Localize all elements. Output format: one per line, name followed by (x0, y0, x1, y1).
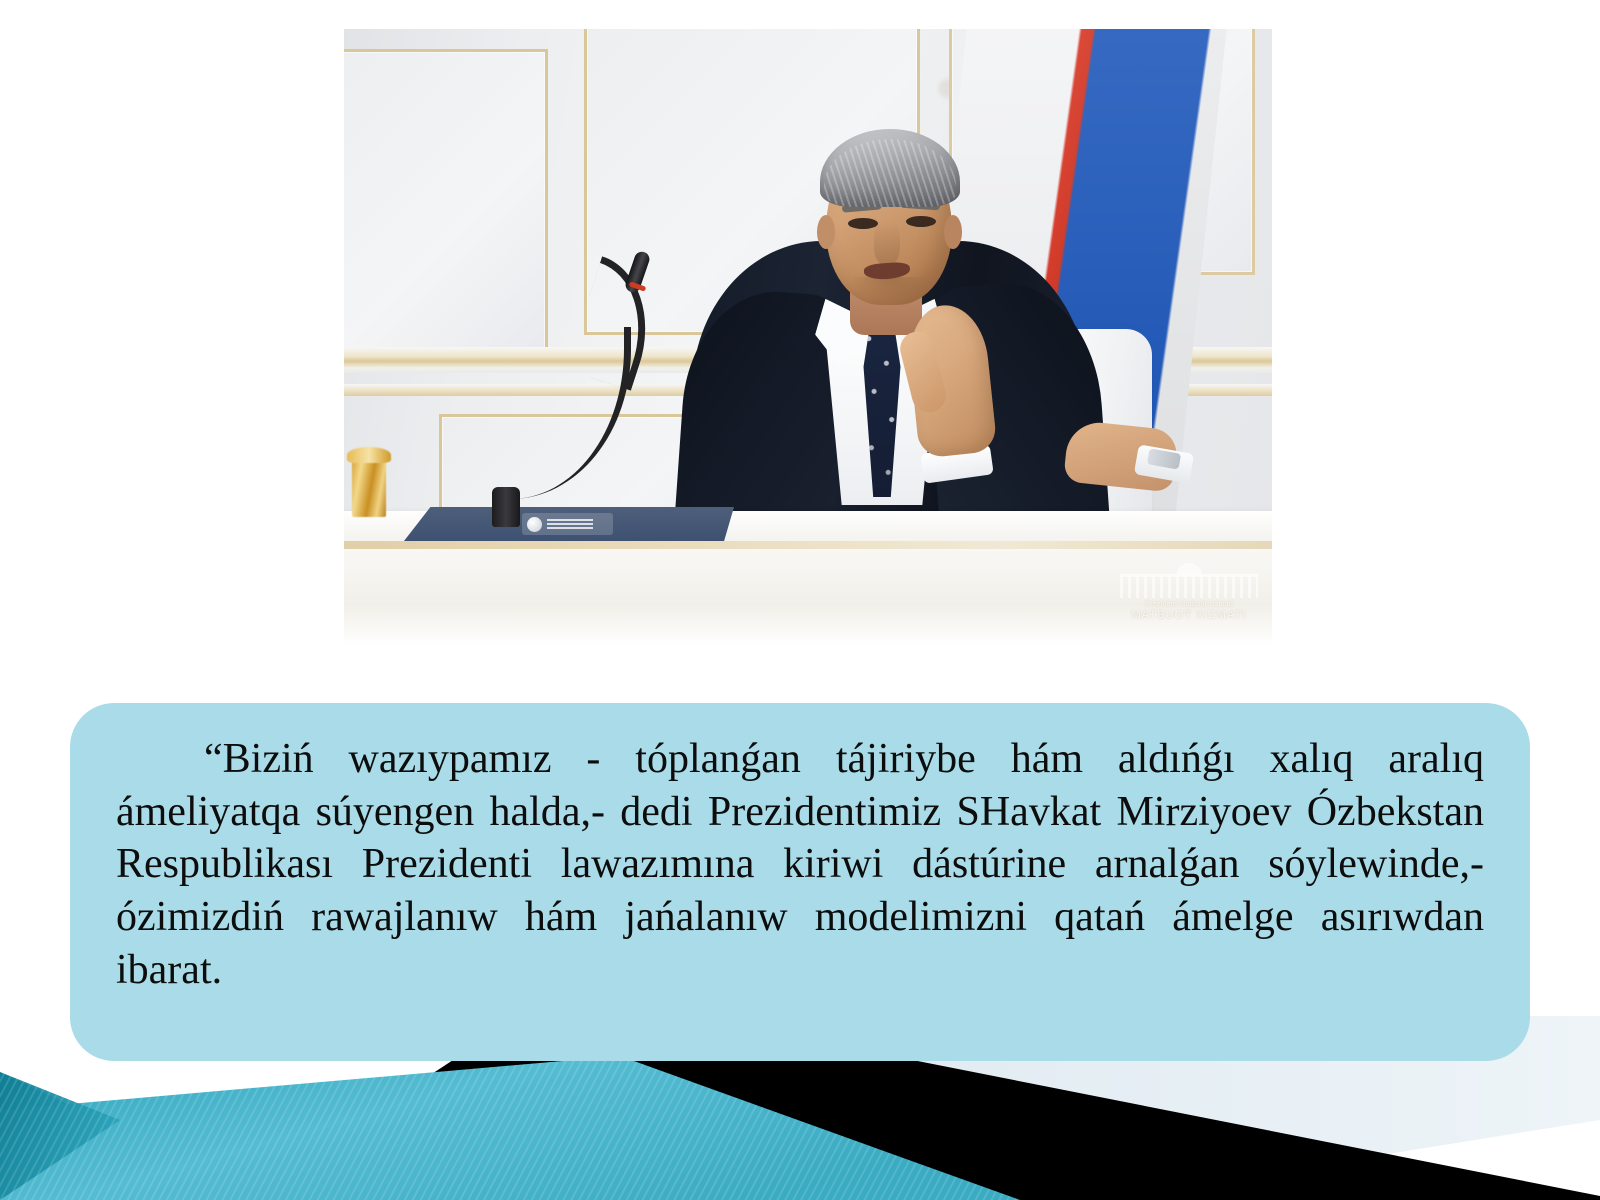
president-photo: Prezident Matbuot xizmati MATBUOT XIZMAT… (344, 29, 1272, 645)
photo-depth-of-field (344, 29, 1272, 645)
quote-callout-box: “Biziń wazıypamız - tóplanǵan tájiriybe … (70, 703, 1530, 1061)
photo-stage: Prezident Matbuot xizmati MATBUOT XIZMAT… (344, 29, 1272, 645)
quote-text: “Biziń wazıypamız - tóplanǵan tájiriybe … (116, 733, 1484, 997)
